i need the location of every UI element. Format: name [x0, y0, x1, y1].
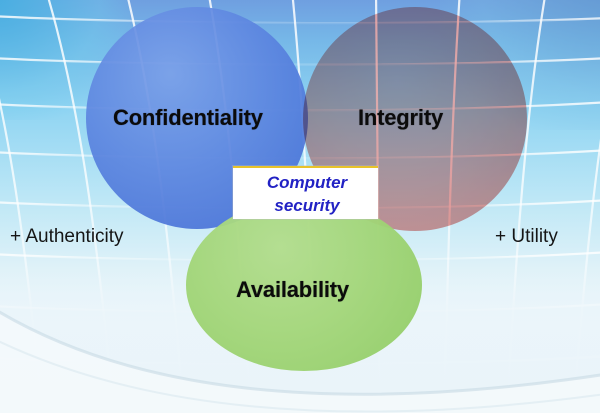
- callout-line-2: security: [274, 196, 339, 215]
- callout-line-1: Computer: [267, 173, 347, 192]
- side-label-authenticity: + Authenticity: [10, 226, 124, 248]
- center-callout-box: Computer security: [233, 166, 378, 219]
- label-availability: Availability: [236, 277, 349, 303]
- label-confidentiality: Confidentiality: [113, 105, 263, 131]
- side-label-utility: + Utility: [495, 226, 558, 248]
- center-callout-text: Computer security: [242, 171, 372, 217]
- cia-triad-venn-diagram: Confidentiality Integrity Availability C…: [0, 0, 600, 413]
- label-integrity: Integrity: [358, 105, 443, 131]
